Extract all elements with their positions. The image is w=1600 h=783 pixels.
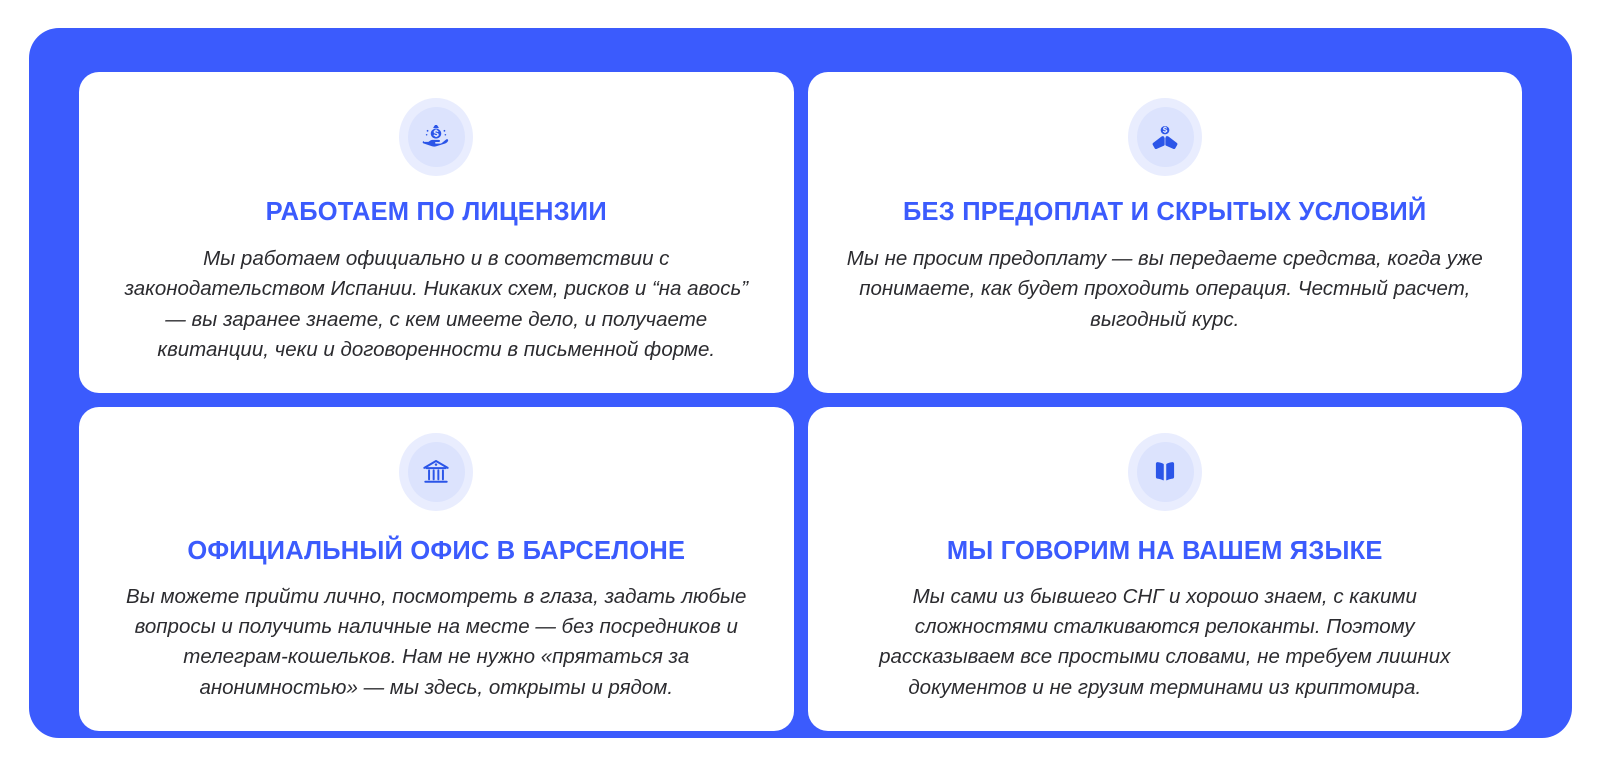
features-grid: РАБОТАЕМ ПО ЛИЦЕНЗИИ Мы работаем официал… [79,72,1522,694]
hand-holding-money-bag-icon [421,122,451,152]
icon-badge [397,433,475,511]
bank-building-icon [421,457,451,487]
feature-card-language: МЫ ГОВОРИМ НА ВАШЕМ ЯЗЫКЕ Мы сами из быв… [808,407,1523,731]
icon-badge [397,98,475,176]
open-book-icon [1150,457,1180,487]
icon-badge [1126,433,1204,511]
card-title: РАБОТАЕМ ПО ЛИЦЕНЗИИ [266,198,607,227]
card-title: МЫ ГОВОРИМ НА ВАШЕМ ЯЗЫКЕ [947,537,1383,566]
card-title: ОФИЦИАЛЬНЫЙ ОФИС В БАРСЕЛОНЕ [187,537,685,566]
feature-card-no-prepayment: БЕЗ ПРЕДОПЛАТ И СКРЫТЫХ УСЛОВИЙ Мы не пр… [808,72,1523,393]
card-body: Мы работаем официально и в соответствии … [116,244,756,365]
icon-badge [1126,98,1204,176]
card-title: БЕЗ ПРЕДОПЛАТ И СКРЫТЫХ УСЛОВИЙ [903,198,1426,227]
feature-card-office: ОФИЦИАЛЬНЫЙ ОФИС В БАРСЕЛОНЕ Вы можете п… [79,407,794,731]
card-body: Мы не просим предоплату — вы передаете с… [845,244,1485,334]
hands-receiving-coin-icon [1150,122,1180,152]
feature-card-license: РАБОТАЕМ ПО ЛИЦЕНЗИИ Мы работаем официал… [79,72,794,393]
card-body: Вы можете прийти лично, посмотреть в гла… [116,582,756,703]
features-panel: РАБОТАЕМ ПО ЛИЦЕНЗИИ Мы работаем официал… [29,28,1572,738]
card-body: Мы сами из бывшего СНГ и хорошо знаем, с… [845,582,1485,703]
